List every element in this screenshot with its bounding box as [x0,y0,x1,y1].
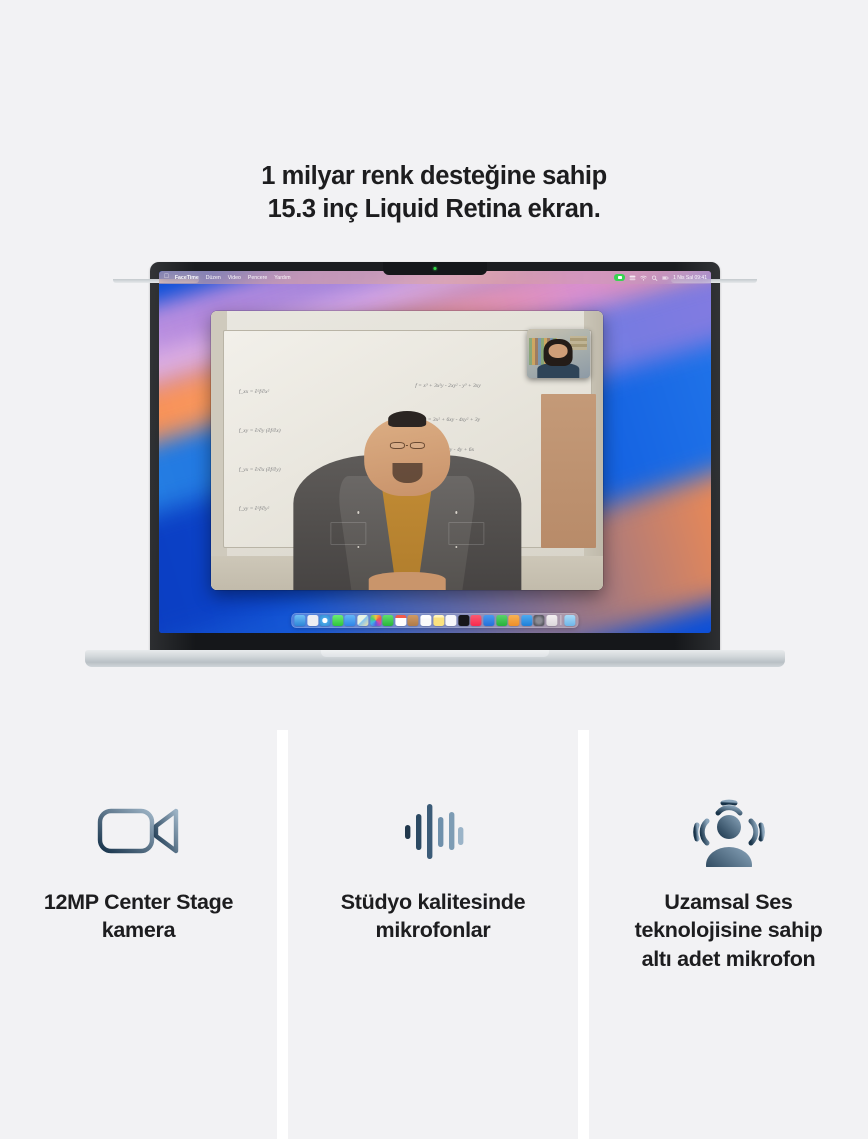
feature-title-line-2: mikrofonlar [298,916,568,944]
feature-title-line-2: teknolojisine sahip [595,916,862,944]
freeform-icon[interactable] [446,615,457,626]
photos-icon[interactable] [370,615,381,626]
presenter-glasses [390,442,425,449]
feature-icon-wrapper [288,788,578,874]
apple-tv-icon[interactable] [458,615,469,626]
finder-icon[interactable] [294,615,305,626]
glasses-bridge [406,445,408,446]
system-settings-icon[interactable] [534,615,545,626]
apple-logo-icon[interactable]:  [164,274,169,281]
macbook-air-device:  FaceTime Düzen Video Pencere Yardım [85,262,785,682]
jacket-pocket-right [448,522,484,544]
search-icon[interactable] [651,275,658,281]
pages-icon[interactable] [508,615,519,626]
menu-bar-status-area: 1 Nis Sal 09:41 [614,274,707,281]
mail-icon[interactable] [345,615,356,626]
facetime-window[interactable]: f_xx = ∂²f/∂x² f_xy = ∂/∂y (∂f/∂x) f_yx … [211,311,603,590]
launchpad-icon[interactable] [307,615,318,626]
spatial-audio-icon [690,795,768,867]
hero-section: 1 milyar renk desteğine sahip 15.3 inç L… [0,0,868,730]
maps-icon[interactable] [357,615,368,626]
feature-title: Stüdyo kalitesinde mikrofonlar [288,888,578,945]
audio-waveform-icon [402,801,464,861]
laptop-display-lid:  FaceTime Düzen Video Pencere Yardım [150,262,720,654]
messages-icon[interactable] [332,615,343,626]
feature-title-line-1: 12MP Center Stage [10,888,267,916]
battery-icon[interactable] [662,275,669,281]
menu-item-pencere[interactable]: Pencere [248,275,267,281]
headline-line-1: 1 milyar renk desteğine sahip [0,160,868,193]
camera-active-indicator [614,274,625,281]
headline-line-2: 15.3 inç Liquid Retina ekran. [0,193,868,226]
equation: f = x³ + 3x²y - 2xy² - y³ + 3xy [415,383,481,389]
feature-icon-wrapper [0,788,277,874]
jacket-button [357,511,359,513]
menu-bar-clock[interactable]: 1 Nis Sal 09:41 [673,275,707,281]
control-center-icon[interactable] [629,275,636,281]
card-gutter [277,730,288,1139]
safari-icon[interactable] [320,615,331,626]
feature-card-camera: 12MP Center Stage kamera [0,730,277,1139]
photo-booth-icon[interactable] [565,615,576,626]
menu-item-yardim[interactable]: Yardım [274,275,290,281]
presenter-head [364,417,450,496]
presenter-beard [393,463,422,484]
menu-item-video[interactable]: Video [228,275,241,281]
equation: f_yx = ∂/∂x (∂f/∂y) [239,467,281,473]
contacts-icon[interactable] [408,615,419,626]
video-camera-icon [96,802,182,860]
music-icon[interactable] [471,615,482,626]
reminders-icon[interactable] [420,615,431,626]
main-participant-video [294,417,521,590]
card-gutter [578,730,589,1139]
menu-item-duzen[interactable]: Düzen [206,275,221,281]
feature-title: 12MP Center Stage kamera [0,888,277,945]
laptop-screen:  FaceTime Düzen Video Pencere Yardım [159,271,711,633]
feature-icon-wrapper [589,788,868,874]
laptop-base-notch [321,650,549,657]
page-headline: 1 milyar renk desteğine sahip 15.3 inç L… [0,160,868,226]
podcasts-icon[interactable] [546,615,557,626]
laptop-base [85,650,785,667]
feature-card-spatial-audio: Uzamsal Ses teknolojisine sahip altı ade… [589,730,868,1139]
equation: f_xx = ∂²f/∂x² [239,389,269,395]
calendar-icon[interactable] [395,615,406,626]
numbers-icon[interactable] [496,615,507,626]
feature-title-line-3: altı adet mikrofon [595,945,862,973]
menu-item-app-name[interactable]: FaceTime [175,275,199,281]
keynote-icon[interactable] [483,615,494,626]
jacket-pocket-left [330,522,366,544]
presenter-hair [388,411,426,427]
feature-card-microphones: Stüdyo kalitesinde mikrofonlar [288,730,578,1139]
camera-led-indicator [434,267,437,270]
jacket-button [455,511,457,513]
feature-title-line-1: Stüdyo kalitesinde [298,888,568,916]
door [541,394,596,547]
equation: f_xy = ∂/∂y (∂f/∂x) [239,428,281,434]
feature-title-line-1: Uzamsal Ses [595,888,862,916]
glasses-lens-left [390,442,405,449]
feature-cards-row: 12MP Center Stage kamera Stüdyo kali [0,730,868,1139]
glasses-lens-right [410,442,425,449]
presenter-hands [369,572,446,589]
equation: f_yy = ∂²f/∂y² [239,506,269,512]
feature-title-line-2: kamera [10,916,267,944]
display-notch [383,262,487,275]
dock-separator [560,615,561,625]
wifi-icon[interactable] [640,275,647,281]
pip-thumbnail[interactable] [527,329,590,378]
app-store-icon[interactable] [521,615,532,626]
macos-dock[interactable] [291,613,578,628]
notes-icon[interactable] [433,615,444,626]
facetime-icon[interactable] [383,615,394,626]
feature-title: Uzamsal Ses teknolojisine sahip altı ade… [589,888,868,973]
pip-participant-hair [544,339,573,366]
